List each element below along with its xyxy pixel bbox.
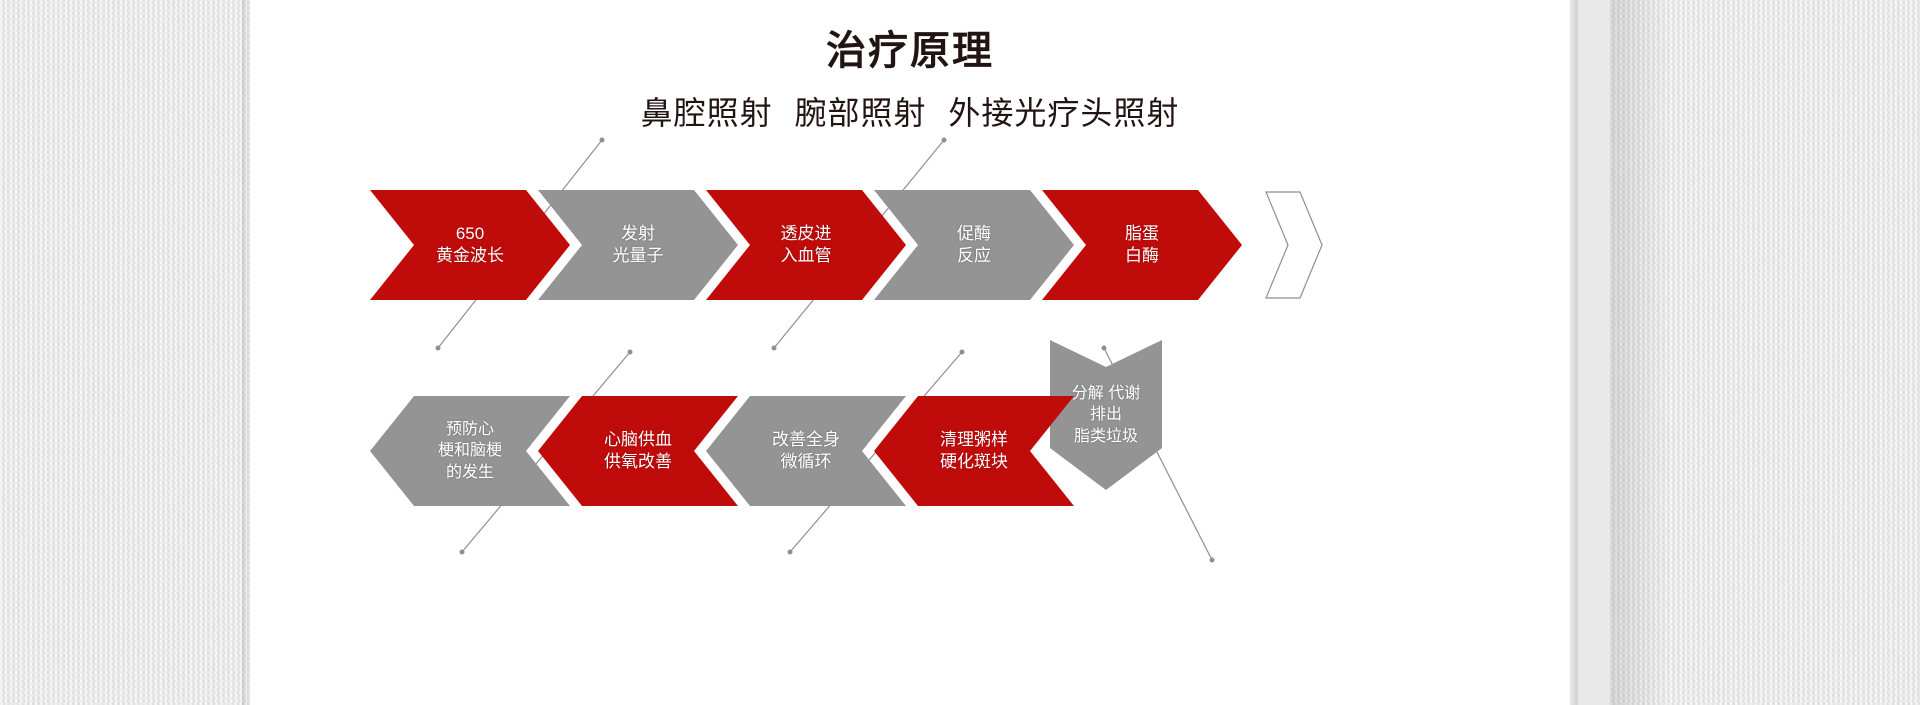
page-title: 治疗原理 [250, 18, 1570, 76]
flow-step-6[interactable]: 清理粥样 硬化斑块 [874, 396, 1074, 506]
outline-chevron-r1-4 [1264, 190, 1324, 300]
subtitle-part-1: 鼻腔照射 [641, 95, 773, 131]
subtitle-part-3: 外接光疗头照射 [948, 95, 1179, 131]
flow-step-turn[interactable]: 分解 代谢 排出 脂类垃圾 [1050, 340, 1162, 490]
page-root: 治疗原理 鼻腔照射 腕部照射 外接光疗头照射 [0, 0, 1920, 705]
slide-canvas: 治疗原理 鼻腔照射 腕部照射 外接光疗头照射 [250, 0, 1570, 705]
subtitle-row: 鼻腔照射 腕部照射 外接光疗头照射 [250, 88, 1570, 134]
texture-panel-right [1610, 0, 1920, 705]
subtitle-part-2: 腕部照射 [794, 95, 926, 131]
flow-step-1[interactable]: 650 黄金波长 [370, 190, 570, 300]
